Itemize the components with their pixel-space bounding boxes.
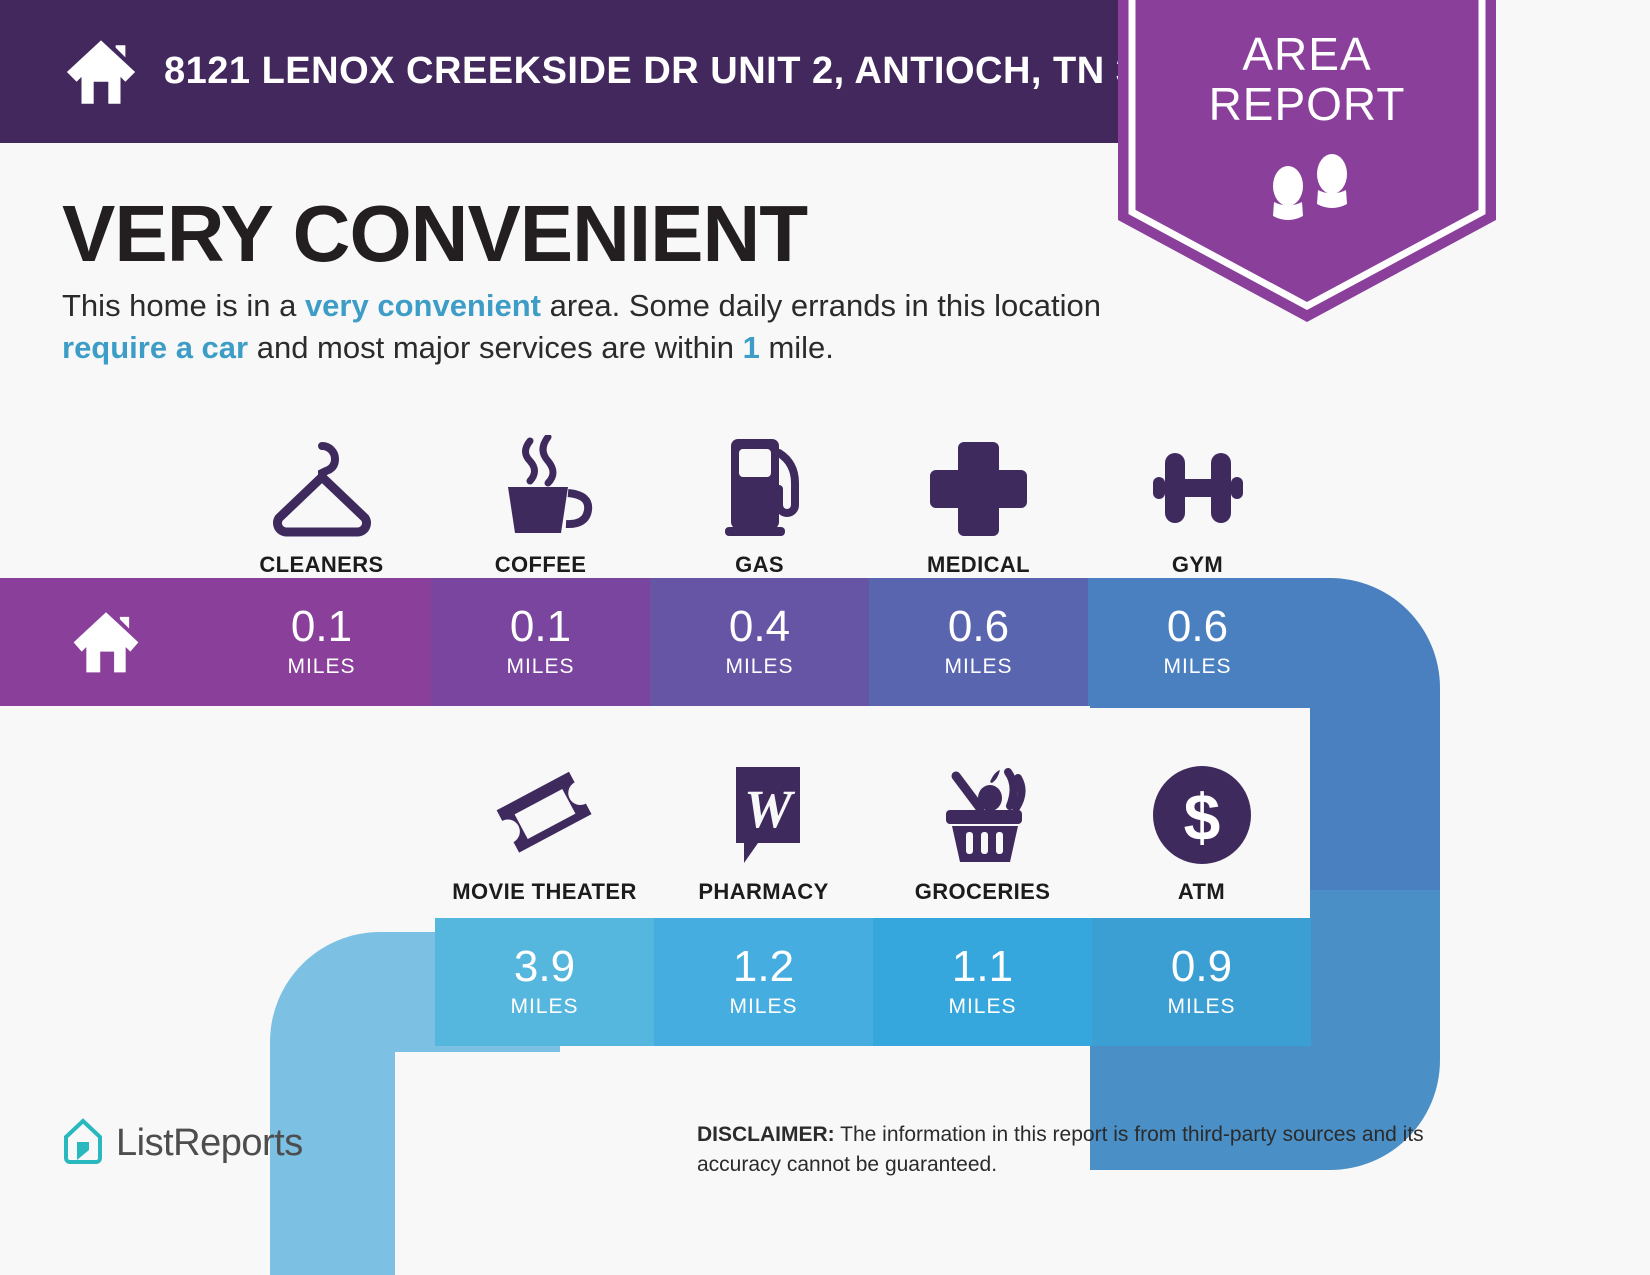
category-atm: $ ATM (1092, 755, 1311, 905)
label-movie-theater: MOVIE THEATER (452, 879, 636, 905)
row2-icon-strip: MOVIE THEATER W PHARMACY (435, 755, 1310, 905)
value-cell-groceries: 1.1 MILES (873, 918, 1092, 1046)
label-atm: ATM (1178, 879, 1225, 905)
unit-pharmacy: MILES (729, 995, 797, 1019)
dumbbell-icon (1139, 435, 1257, 540)
category-movie-theater: MOVIE THEATER (435, 755, 654, 905)
value-medical: 0.6 (948, 605, 1009, 649)
home-icon (62, 33, 140, 111)
value-cleaners: 0.1 (291, 605, 352, 649)
description: This home is in a very convenient area. … (62, 285, 1122, 370)
value-movie-theater: 3.9 (514, 945, 575, 989)
unit-cleaners: MILES (287, 655, 355, 679)
value-gym: 0.6 (1167, 605, 1228, 649)
category-medical: MEDICAL (869, 418, 1088, 578)
desc-part1: This home is in a (62, 288, 305, 323)
headline: VERY CONVENIENT (62, 188, 807, 280)
listreports-wordmark: ListReports (116, 1122, 303, 1165)
badge-label: AREA REPORT (1118, 30, 1496, 129)
svg-text:$: $ (1183, 780, 1220, 854)
label-cleaners: CLEANERS (259, 552, 383, 578)
header-bar: 8121 LENOX CREEKSIDE DR UNIT 2, ANTIOCH,… (0, 0, 1182, 143)
unit-coffee: MILES (506, 655, 574, 679)
badge-line2: REPORT (1118, 80, 1496, 130)
disclaimer-label: DISCLAIMER: (697, 1123, 835, 1146)
value-pharmacy: 1.2 (733, 945, 794, 989)
home-origin-cell (0, 578, 212, 706)
unit-groceries: MILES (948, 995, 1016, 1019)
home-icon (69, 603, 143, 682)
label-coffee: COFFEE (495, 552, 587, 578)
category-coffee: COFFEE (431, 418, 650, 578)
value-gas: 0.4 (729, 605, 790, 649)
grocery-basket-icon (928, 762, 1038, 867)
value-cell-atm: 0.9 MILES (1092, 918, 1311, 1046)
row1-distance-bar: 0.1 MILES 0.1 MILES 0.4 MILES 0.6 MILES … (0, 578, 1310, 706)
desc-accent-car: require a car (62, 330, 248, 365)
gas-pump-icon (705, 435, 815, 540)
label-medical: MEDICAL (927, 552, 1030, 578)
desc-accent-convenient: very convenient (305, 288, 541, 323)
movie-ticket-icon (490, 762, 600, 867)
atm-dollar-icon: $ (1151, 762, 1253, 867)
unit-atm: MILES (1167, 995, 1235, 1019)
unit-medical: MILES (944, 655, 1012, 679)
value-cell-movie-theater: 3.9 MILES (435, 918, 654, 1046)
value-cell-pharmacy: 1.2 MILES (654, 918, 873, 1046)
unit-gym: MILES (1163, 655, 1231, 679)
desc-accent-miles: 1 (743, 330, 760, 365)
page-title: 8121 LENOX CREEKSIDE DR UNIT 2, ANTIOCH,… (164, 50, 1224, 93)
value-cell-coffee: 0.1 MILES (431, 578, 650, 706)
value-atm: 0.9 (1171, 945, 1232, 989)
desc-part2: area. Some daily errands in this locatio… (541, 288, 1101, 323)
desc-part4: mile. (760, 330, 834, 365)
unit-movie-theater: MILES (510, 995, 578, 1019)
value-cell-gym: 0.6 MILES (1088, 578, 1307, 706)
category-gas: GAS (650, 418, 869, 578)
pharmacy-w-icon: W (714, 762, 814, 867)
value-cell-cleaners: 0.1 MILES (212, 578, 431, 706)
label-groceries: GROCERIES (915, 879, 1051, 905)
coffee-icon (486, 435, 596, 540)
value-coffee: 0.1 (510, 605, 571, 649)
category-gym: GYM (1088, 418, 1307, 578)
label-gas: GAS (735, 552, 784, 578)
svg-text:W: W (743, 779, 795, 839)
unit-gas: MILES (725, 655, 793, 679)
category-cleaners: CLEANERS (212, 418, 431, 578)
value-cell-medical: 0.6 MILES (869, 578, 1088, 706)
area-report-badge: AREA REPORT (1118, 0, 1496, 322)
row1-icon-spacer (0, 418, 212, 578)
label-pharmacy: PHARMACY (698, 879, 828, 905)
value-groceries: 1.1 (952, 945, 1013, 989)
badge-line1: AREA (1118, 30, 1496, 80)
value-cell-gas: 0.4 MILES (650, 578, 869, 706)
category-groceries: GROCERIES (873, 755, 1092, 905)
row1-icon-strip: CLEANERS COFFEE GAS (0, 418, 1310, 578)
medical-cross-icon (926, 435, 1031, 540)
listreports-logo: ListReports (62, 1118, 303, 1169)
desc-part3: and most major services are within (248, 330, 742, 365)
disclaimer: DISCLAIMER: The information in this repo… (697, 1120, 1507, 1181)
category-pharmacy: W PHARMACY (654, 755, 873, 905)
hanger-icon (267, 435, 377, 540)
listreports-house-icon (62, 1118, 104, 1169)
label-gym: GYM (1172, 552, 1223, 578)
row2-distance-bar: 3.9 MILES 1.2 MILES 1.1 MILES 0.9 MILES (435, 918, 1310, 1046)
